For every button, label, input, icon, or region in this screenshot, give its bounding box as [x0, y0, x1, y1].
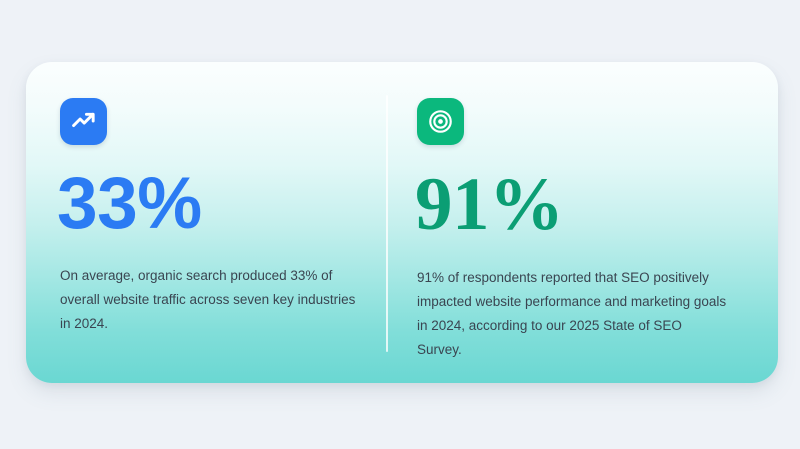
stat-column-organic-search: 33% On average, organic search produced … — [26, 62, 386, 383]
stat-value-organic-search: 33% — [57, 167, 360, 240]
stat-card: 33% On average, organic search produced … — [26, 62, 778, 383]
stat-card-content: 33% On average, organic search produced … — [26, 62, 778, 383]
stat-description-seo-impact: 91% of respondents reported that SEO pos… — [417, 266, 727, 362]
trending-up-icon — [70, 108, 97, 135]
trending-up-icon-tile — [60, 98, 107, 145]
target-icon-tile — [417, 98, 464, 145]
page-canvas: 33% On average, organic search produced … — [0, 0, 800, 449]
stat-value-seo-impact: 91% — [415, 167, 752, 242]
stat-column-seo-impact: 91% 91% of respondents reported that SEO… — [386, 62, 778, 383]
stat-description-organic-search: On average, organic search produced 33% … — [60, 264, 356, 336]
target-icon — [427, 108, 454, 135]
